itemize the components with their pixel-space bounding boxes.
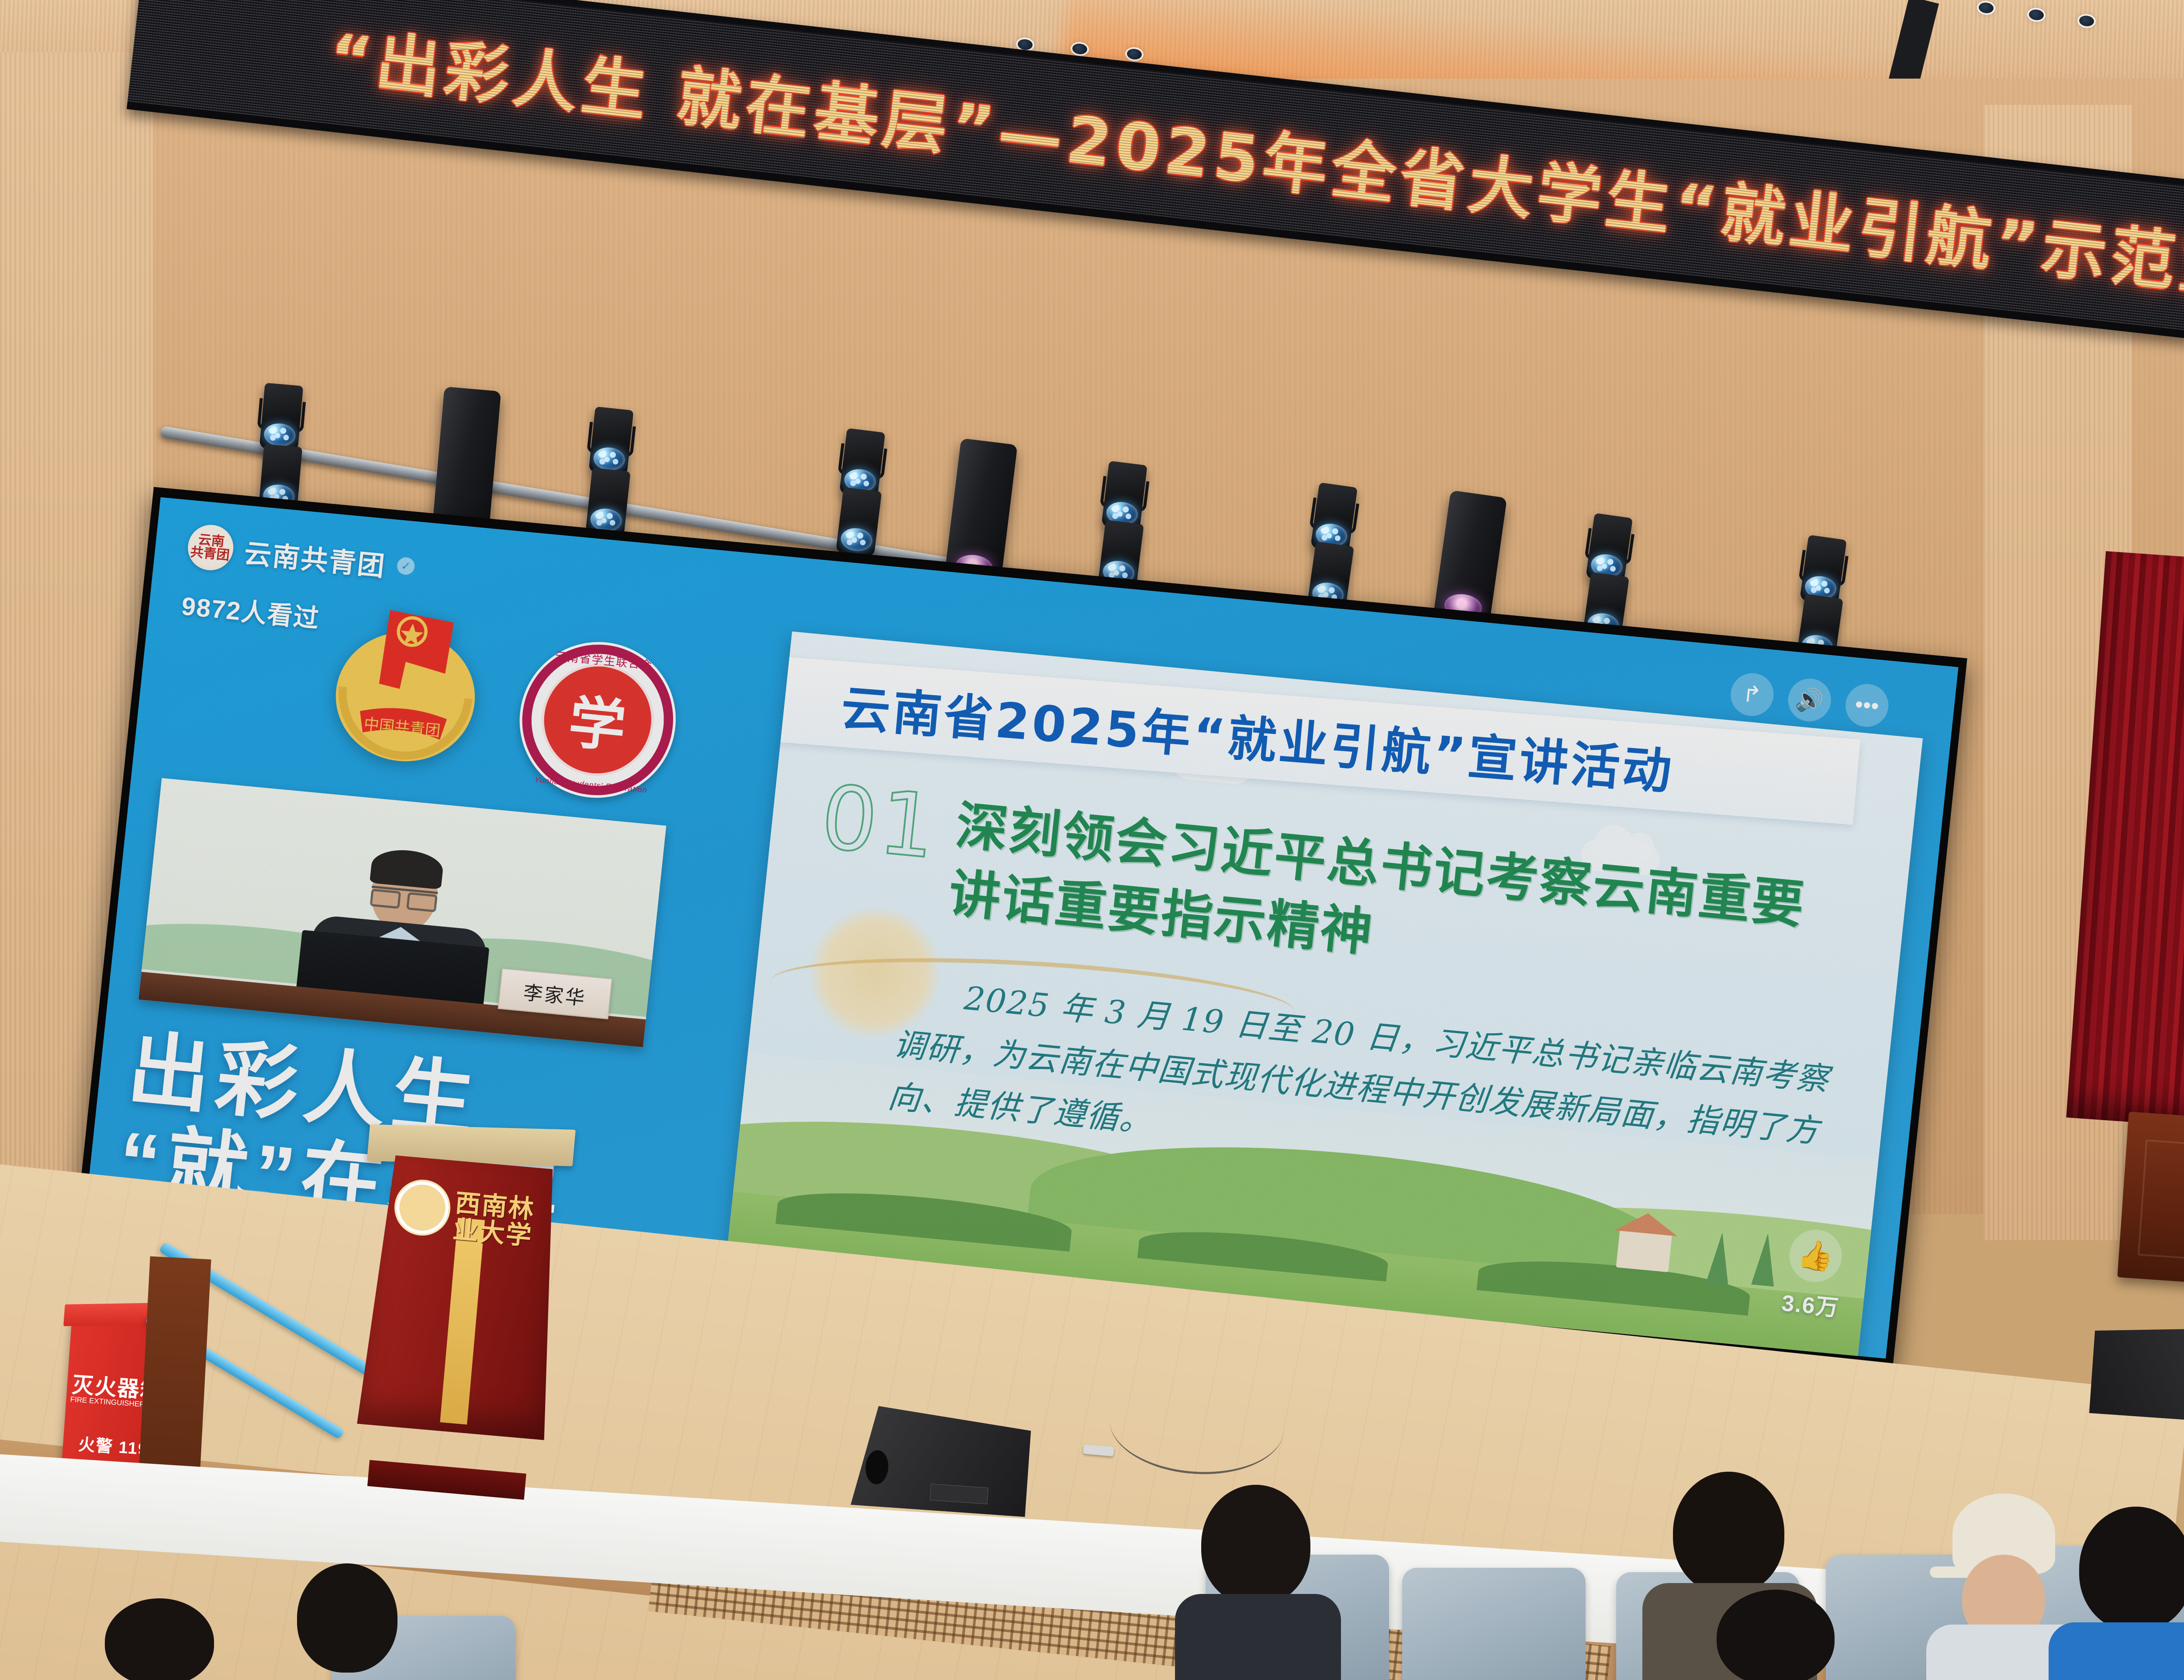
audience-seat (1402, 1568, 1586, 1680)
stage-monitor-speaker (2089, 1317, 2184, 1425)
speaker-badge (930, 1483, 988, 1504)
more-icon[interactable]: ••• (1843, 682, 1890, 729)
share-icon[interactable]: ↱ (1728, 671, 1776, 718)
stair-post (138, 1256, 211, 1487)
seal-center-char: 学 (536, 659, 659, 781)
stage-light-fixture (259, 383, 304, 451)
audience-shoulders (2049, 1622, 2184, 1680)
like-count: 3.6万 (1780, 1284, 1841, 1322)
auditorium-scene: “出彩人生 就在基层”—2025年全省大学生“就业引航”示范宣讲活动 (0, 0, 2184, 1680)
podium-university-name: 西南林业大学 (452, 1190, 556, 1251)
audience-head (297, 1563, 397, 1673)
like-control[interactable]: 👍 3.6万 (1780, 1227, 1847, 1322)
stage-light-fixture (588, 407, 633, 476)
livestream-controls: ↱ 🔊 ••• (1728, 671, 1890, 729)
student-federation-seal-icon: 云南省学生联合会 学 Yunnan Students' Federation (512, 635, 684, 805)
audience-head (1673, 1472, 1784, 1594)
audience-head (105, 1598, 214, 1680)
livestream-account[interactable]: 云南共青团 云南共青团 ✓ (186, 523, 417, 589)
slide-title: 云南省2025年“就业引航”宣讲活动 (839, 669, 1677, 804)
account-avatar[interactable]: 云南共青团 (186, 523, 235, 572)
speaker-port (864, 1449, 889, 1485)
youth-league-emblem-icon: 中国共青团 (318, 588, 496, 773)
account-name: 云南共青团 (242, 531, 388, 583)
podium: 西南林业大学 (353, 1145, 569, 1484)
stage-light-fixture (585, 468, 630, 537)
audience-head (1717, 1590, 1835, 1680)
audience-head (2079, 1507, 2184, 1631)
volume-icon[interactable]: 🔊 (1786, 677, 1833, 724)
stage-light-fixture (836, 487, 882, 557)
illustration-house (1616, 1230, 1672, 1272)
thumbs-up-icon[interactable]: 👍 (1787, 1227, 1845, 1284)
seal-bottom-text: Yunnan Students' Federation (515, 773, 667, 797)
presentation-slide: 云南省2025年“就业引航”宣讲活动 01 深刻领会习近平总书记考察云南重要讲话… (726, 631, 1923, 1359)
lectern-left (2117, 1111, 2184, 1290)
speaker-hair (370, 847, 445, 890)
lectern-panel (2138, 1139, 2184, 1266)
audience-shoulders (1175, 1594, 1341, 1680)
verified-badge-icon: ✓ (396, 556, 415, 576)
slide-section-number: 01 (816, 766, 943, 879)
led-par-lens-icon (840, 527, 874, 553)
speaker-video-inset: 李家华 (138, 778, 666, 1047)
viewer-count-label: 9872人看过 (180, 585, 321, 635)
audience-head (1201, 1485, 1310, 1605)
